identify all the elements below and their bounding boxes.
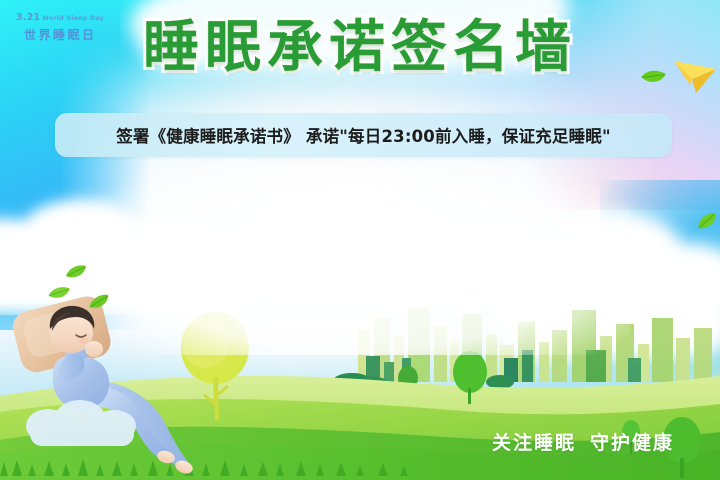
pledge-subtitle-banner: 签署《健康睡眠承诺书》 承诺"每日23:00前入睡，保证充足睡眠" xyxy=(55,113,672,157)
poster-title-wrap: 睡眠承诺签名墙 xyxy=(0,20,720,76)
sleep-pledge-poster: 3.21World Sleep Day 世界睡眠日 睡眠承诺签名墙 签署《健康睡… xyxy=(0,0,720,480)
world-sleep-day-badge xyxy=(22,396,142,452)
bottom-slogan: 关注睡眠守护健康 xyxy=(492,428,674,455)
slogan-left: 关注睡眠 xyxy=(492,432,576,454)
slogan-right: 守护健康 xyxy=(590,432,674,454)
pledge-subtitle-text: 签署《健康睡眠承诺书》 承诺"每日23:00前入睡，保证充足睡眠" xyxy=(116,123,611,147)
page-title: 睡眠承诺签名墙 xyxy=(143,20,577,76)
sleeping-person-icon xyxy=(8,295,203,480)
leaf-icon-left-3 xyxy=(87,293,111,311)
leaf-icon-left-2 xyxy=(47,284,71,303)
leaf-icon-left-1 xyxy=(65,264,87,280)
